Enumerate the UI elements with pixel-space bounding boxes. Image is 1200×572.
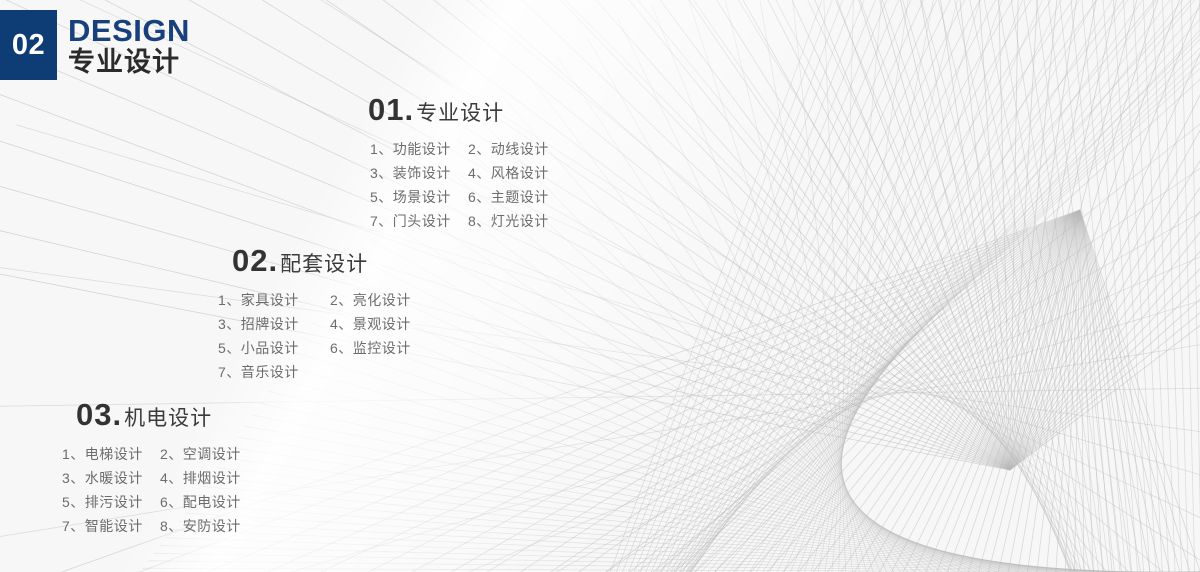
list-cell: 8、安防设计 [160,514,258,538]
list-cell: 6、主题设计 [468,185,566,209]
section-03-number: 03. [76,397,122,433]
list-item: 1、功能设计 2、动线设计 [370,137,566,161]
header-title-en: DESIGN [68,15,190,46]
header-title-cn: 专业设计 [68,49,190,76]
slide-header: 02 DESIGN 专业设计 [0,10,190,80]
section-01-heading: 01. 专业设计 [368,92,566,128]
list-cell: 3、水暖设计 [62,466,160,490]
list-cell: 3、招牌设计 [218,312,330,336]
content-section-02: 02. 配套设计 1、家具设计 2、亮化设计 3、招牌设计 4、景观设计 5、小… [232,243,442,384]
list-item: 3、招牌设计 4、景观设计 [218,312,442,336]
section-01-number: 01. [368,92,414,128]
list-cell: 2、空调设计 [160,442,258,466]
list-item: 7、门头设计 8、灯光设计 [370,209,566,233]
list-item: 1、家具设计 2、亮化设计 [218,288,442,312]
list-cell: 4、排烟设计 [160,466,258,490]
list-item: 7、音乐设计 [218,360,442,384]
list-item: 1、电梯设计 2、空调设计 [62,442,258,466]
list-cell: 4、景观设计 [330,312,442,336]
list-item: 3、装饰设计 4、风格设计 [370,161,566,185]
section-number-badge: 02 [0,10,57,80]
list-cell: 7、门头设计 [370,209,468,233]
list-cell: 5、场景设计 [370,185,468,209]
list-cell [330,360,442,384]
header-text-block: DESIGN 专业设计 [68,10,190,80]
section-03-heading: 03. 机电设计 [76,397,258,433]
content-section-03: 03. 机电设计 1、电梯设计 2、空调设计 3、水暖设计 4、排烟设计 5、排… [76,397,258,538]
section-03-title: 机电设计 [124,402,212,432]
section-01-title: 专业设计 [416,97,504,127]
list-cell: 7、智能设计 [62,514,160,538]
section-02-heading: 02. 配套设计 [232,243,442,279]
section-02-title: 配套设计 [280,248,368,278]
list-cell: 1、电梯设计 [62,442,160,466]
list-item: 7、智能设计 8、安防设计 [62,514,258,538]
list-cell: 2、动线设计 [468,137,566,161]
section-02-list: 1、家具设计 2、亮化设计 3、招牌设计 4、景观设计 5、小品设计 6、监控设… [218,288,442,384]
section-01-list: 1、功能设计 2、动线设计 3、装饰设计 4、风格设计 5、场景设计 6、主题设… [368,137,566,233]
list-item: 5、排污设计 6、配电设计 [62,490,258,514]
list-cell: 5、排污设计 [62,490,160,514]
list-item: 3、水暖设计 4、排烟设计 [62,466,258,490]
list-cell: 4、风格设计 [468,161,566,185]
list-cell: 2、亮化设计 [330,288,442,312]
content-section-01: 01. 专业设计 1、功能设计 2、动线设计 3、装饰设计 4、风格设计 5、场… [368,92,566,233]
list-item: 5、场景设计 6、主题设计 [370,185,566,209]
slide-root: 02 DESIGN 专业设计 01. 专业设计 1、功能设计 2、动线设计 3、… [0,0,1200,572]
list-cell: 5、小品设计 [218,336,330,360]
list-cell: 1、功能设计 [370,137,468,161]
list-item: 5、小品设计 6、监控设计 [218,336,442,360]
list-cell: 8、灯光设计 [468,209,566,233]
section-03-list: 1、电梯设计 2、空调设计 3、水暖设计 4、排烟设计 5、排污设计 6、配电设… [62,442,258,538]
list-cell: 1、家具设计 [218,288,330,312]
list-cell: 3、装饰设计 [370,161,468,185]
section-02-number: 02. [232,243,278,279]
list-cell: 7、音乐设计 [218,360,330,384]
list-cell: 6、配电设计 [160,490,258,514]
list-cell: 6、监控设计 [330,336,442,360]
